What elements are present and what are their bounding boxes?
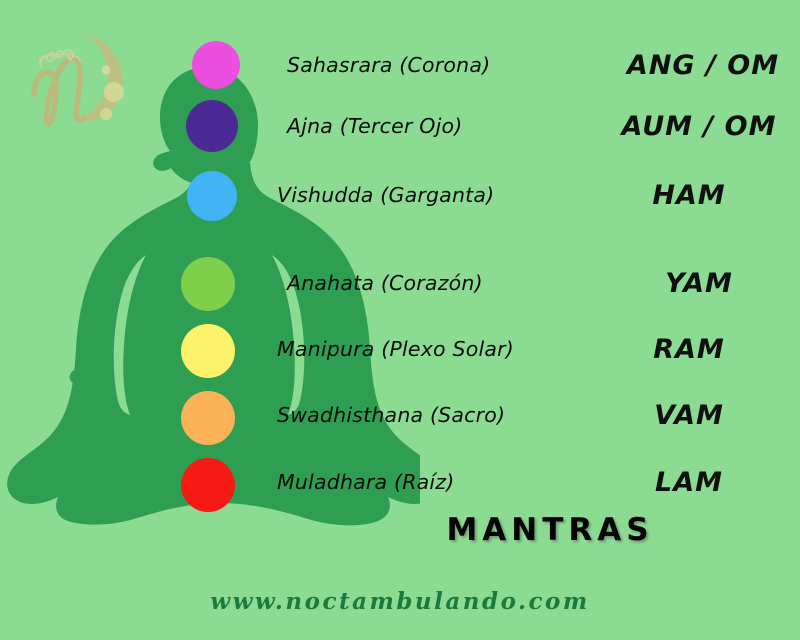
chakra-dot-sahasrara bbox=[192, 41, 240, 89]
chakra-dot-manipura bbox=[181, 324, 235, 378]
page-title: MANTRAS bbox=[400, 512, 700, 548]
chakra-mantra-manipura: RAM bbox=[579, 334, 799, 365]
chakra-row-ajna: Ajna (Tercer Ojo) AUM / OM bbox=[255, 103, 800, 149]
chakra-row-manipura: Manipura (Plexo Solar) RAM bbox=[255, 326, 800, 372]
chakra-name-vishudda: Vishudda (Garganta) bbox=[255, 183, 587, 207]
chakra-mantra-anahata: YAM bbox=[589, 268, 800, 299]
chakra-dot-swadhisthana bbox=[181, 391, 235, 445]
chakra-mantra-sahasrara: ANG / OM bbox=[593, 50, 800, 81]
chakra-dot-vishudda bbox=[187, 171, 237, 221]
chakra-dot-ajna bbox=[186, 100, 238, 152]
chakra-row-muladhara: Muladhara (Raíz) LAM bbox=[255, 459, 800, 505]
chakra-name-manipura: Manipura (Plexo Solar) bbox=[255, 337, 587, 361]
chakra-row-vishudda: Vishudda (Garganta) HAM bbox=[255, 172, 800, 218]
chakra-mantras-infographic: Sahasrara (Corona) ANG / OM Ajna (Tercer… bbox=[0, 0, 800, 640]
chakra-name-swadhisthana: Swadhisthana (Sacro) bbox=[255, 403, 587, 427]
chakra-row-swadhisthana: Swadhisthana (Sacro) VAM bbox=[255, 392, 800, 438]
chakra-mantra-muladhara: LAM bbox=[579, 467, 799, 498]
chakra-name-muladhara: Muladhara (Raíz) bbox=[255, 470, 587, 494]
chakra-mantra-vishudda: HAM bbox=[579, 180, 799, 211]
chakra-name-sahasrara: Sahasrara (Corona) bbox=[255, 53, 597, 77]
chakra-name-anahata: Anahata (Corazón) bbox=[255, 271, 597, 295]
chakra-row-anahata: Anahata (Corazón) YAM bbox=[255, 260, 800, 306]
chakra-mantra-ajna: AUM / OM bbox=[589, 111, 800, 142]
site-url: www.noctambulando.com bbox=[0, 588, 800, 615]
chakra-row-sahasrara: Sahasrara (Corona) ANG / OM bbox=[255, 42, 800, 88]
chakra-name-ajna: Ajna (Tercer Ojo) bbox=[255, 114, 597, 138]
chakra-dot-anahata bbox=[181, 257, 235, 311]
chakra-mantra-swadhisthana: VAM bbox=[579, 400, 799, 431]
chakra-dot-muladhara bbox=[181, 458, 235, 512]
